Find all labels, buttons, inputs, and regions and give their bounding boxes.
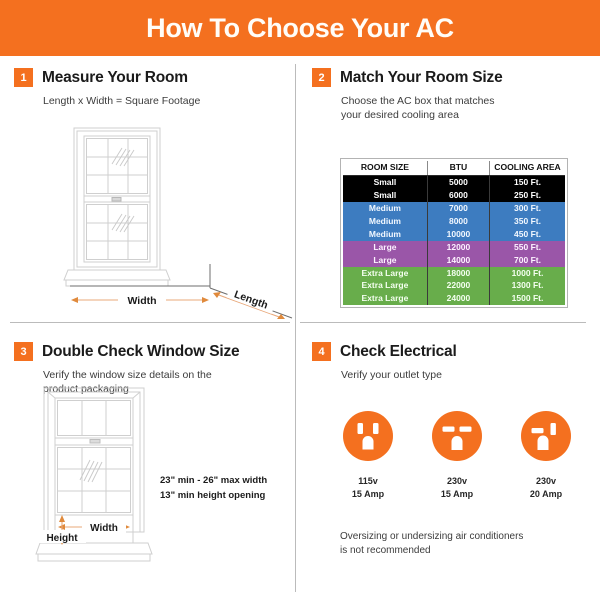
column-header-cooling-area: COOLING AREA <box>490 161 565 176</box>
section-measure-your-room: 1 Measure Your Room Length x Width = Squ… <box>14 68 290 318</box>
window-dimension-notes: 23" min - 26" max width 13" min height o… <box>160 474 267 503</box>
cell-btu: 22000 <box>427 279 489 292</box>
cell-room-size: Medium <box>343 228 427 241</box>
cell-cooling-area: 1300 Ft. <box>490 279 565 292</box>
width-label-3: Width <box>90 523 118 534</box>
section-3-title: Double Check Window Size <box>42 343 239 361</box>
cell-cooling-area: 550 Ft. <box>490 241 565 254</box>
cell-room-size: Extra Large <box>343 292 427 305</box>
header-banner: How To Choose Your AC <box>0 0 600 56</box>
cell-btu: 24000 <box>427 292 489 305</box>
horizontal-divider-right <box>300 322 586 323</box>
content-grid: 1 Measure Your Room Length x Width = Squ… <box>0 56 600 600</box>
column-header-room-size: ROOM SIZE <box>343 161 427 176</box>
section-4-heading: 4 Check Electrical <box>312 342 588 361</box>
length-label-1: Length <box>233 288 270 311</box>
outlet-option-1: 115v 15 Amp <box>332 410 404 500</box>
table-row: Extra Large 18000 1000 Ft. <box>343 267 565 280</box>
step-number-badge-4: 4 <box>312 342 331 361</box>
table-row: Extra Large 24000 1500 Ft. <box>343 292 565 305</box>
btu-table-container: ROOM SIZE BTU COOLING AREA Small 5000 15… <box>340 158 568 308</box>
cell-btu: 6000 <box>427 189 489 202</box>
outlet-amps-3: 20 Amp <box>510 488 582 501</box>
table-row: Small 5000 150 Ft. <box>343 176 565 189</box>
section-4-subtitle: Verify your outlet type <box>341 368 588 382</box>
column-header-btu: BTU <box>427 161 489 176</box>
table-row: Medium 10000 450 Ft. <box>343 228 565 241</box>
table-row: Large 12000 550 Ft. <box>343 241 565 254</box>
section-1-subtitle: Length x Width = Square Footage <box>43 94 290 108</box>
cell-room-size: Large <box>343 254 427 267</box>
outlet-label-2: 230v 15 Amp <box>421 475 493 500</box>
section-1-title: Measure Your Room <box>42 69 188 87</box>
section-match-your-room-size: 2 Match Your Room Size Choose the AC box… <box>312 68 588 318</box>
dimension-line-1: 23" min - 26" max width <box>160 474 267 489</box>
cell-room-size: Small <box>343 189 427 202</box>
cell-btu: 14000 <box>427 254 489 267</box>
table-row: Medium 7000 300 Ft. <box>343 202 565 215</box>
width-label-1: Width <box>127 295 156 307</box>
cell-cooling-area: 450 Ft. <box>490 228 565 241</box>
outlet-amps-1: 15 Amp <box>332 488 404 501</box>
cell-room-size: Medium <box>343 202 427 215</box>
section-check-electrical: 4 Check Electrical Verify your outlet ty… <box>312 342 588 592</box>
cell-room-size: Large <box>343 241 427 254</box>
cell-room-size: Medium <box>343 215 427 228</box>
outlet-label-3: 230v 20 Amp <box>510 475 582 500</box>
section-2-heading: 2 Match Your Room Size <box>312 68 588 87</box>
outlet-type-group: 115v 15 Amp 230v 15 Amp <box>332 410 582 500</box>
section-2-subtitle: Choose the AC box that matches your desi… <box>341 94 588 122</box>
outlet-volts-3: 230v <box>510 475 582 488</box>
cell-room-size: Extra Large <box>343 279 427 292</box>
btu-table-body: Small 5000 150 Ft. Small 6000 250 Ft. Me… <box>343 176 565 305</box>
cell-cooling-area: 1000 Ft. <box>490 267 565 280</box>
cell-btu: 12000 <box>427 241 489 254</box>
outlet-option-3: 230v 20 Amp <box>510 410 582 500</box>
cell-btu: 5000 <box>427 176 489 189</box>
btu-sizing-table: ROOM SIZE BTU COOLING AREA Small 5000 15… <box>343 161 565 305</box>
section-2-title: Match Your Room Size <box>340 69 503 87</box>
section-1-heading: 1 Measure Your Room <box>14 68 290 87</box>
room-measurement-illustration: Width Length <box>60 124 304 329</box>
cell-room-size: Small <box>343 176 427 189</box>
dimension-line-2: 13" min height opening <box>160 489 267 504</box>
cell-btu: 18000 <box>427 267 489 280</box>
cell-btu: 8000 <box>427 215 489 228</box>
outlet-label-1: 115v 15 Amp <box>332 475 404 500</box>
section-3-heading: 3 Double Check Window Size <box>14 342 290 361</box>
section-4-title: Check Electrical <box>340 343 457 361</box>
table-row: Large 14000 700 Ft. <box>343 254 565 267</box>
outlet-115v-15amp-icon <box>342 410 394 462</box>
table-row: Medium 8000 350 Ft. <box>343 215 565 228</box>
step-number-badge-1: 1 <box>14 68 33 87</box>
outlet-volts-2: 230v <box>421 475 493 488</box>
infographic-page: How To Choose Your AC 1 Measure Your Roo… <box>0 0 600 600</box>
outlet-volts-1: 115v <box>332 475 404 488</box>
outlet-230v-15amp-icon <box>431 410 483 462</box>
height-label-3: Height <box>46 533 78 544</box>
table-header-row: ROOM SIZE BTU COOLING AREA <box>343 161 565 176</box>
section-double-check-window-size: 3 Double Check Window Size Verify the wi… <box>14 342 290 592</box>
cell-room-size: Extra Large <box>343 267 427 280</box>
cell-cooling-area: 700 Ft. <box>490 254 565 267</box>
cell-cooling-area: 300 Ft. <box>490 202 565 215</box>
step-number-badge-3: 3 <box>14 342 33 361</box>
cell-cooling-area: 250 Ft. <box>490 189 565 202</box>
cell-cooling-area: 1500 Ft. <box>490 292 565 305</box>
cell-cooling-area: 350 Ft. <box>490 215 565 228</box>
outlet-option-2: 230v 15 Amp <box>421 410 493 500</box>
outlet-230v-20amp-icon <box>520 410 572 462</box>
cell-btu: 7000 <box>427 202 489 215</box>
cell-cooling-area: 150 Ft. <box>490 176 565 189</box>
step-number-badge-2: 2 <box>312 68 331 87</box>
outlet-amps-2: 15 Amp <box>421 488 493 501</box>
table-row: Extra Large 22000 1300 Ft. <box>343 279 565 292</box>
table-row: Small 6000 250 Ft. <box>343 189 565 202</box>
window-size-illustration: Width Height <box>30 384 160 579</box>
cell-btu: 10000 <box>427 228 489 241</box>
page-title: How To Choose Your AC <box>146 13 454 44</box>
sizing-disclaimer-note: Oversizing or undersizing air conditione… <box>340 530 580 558</box>
